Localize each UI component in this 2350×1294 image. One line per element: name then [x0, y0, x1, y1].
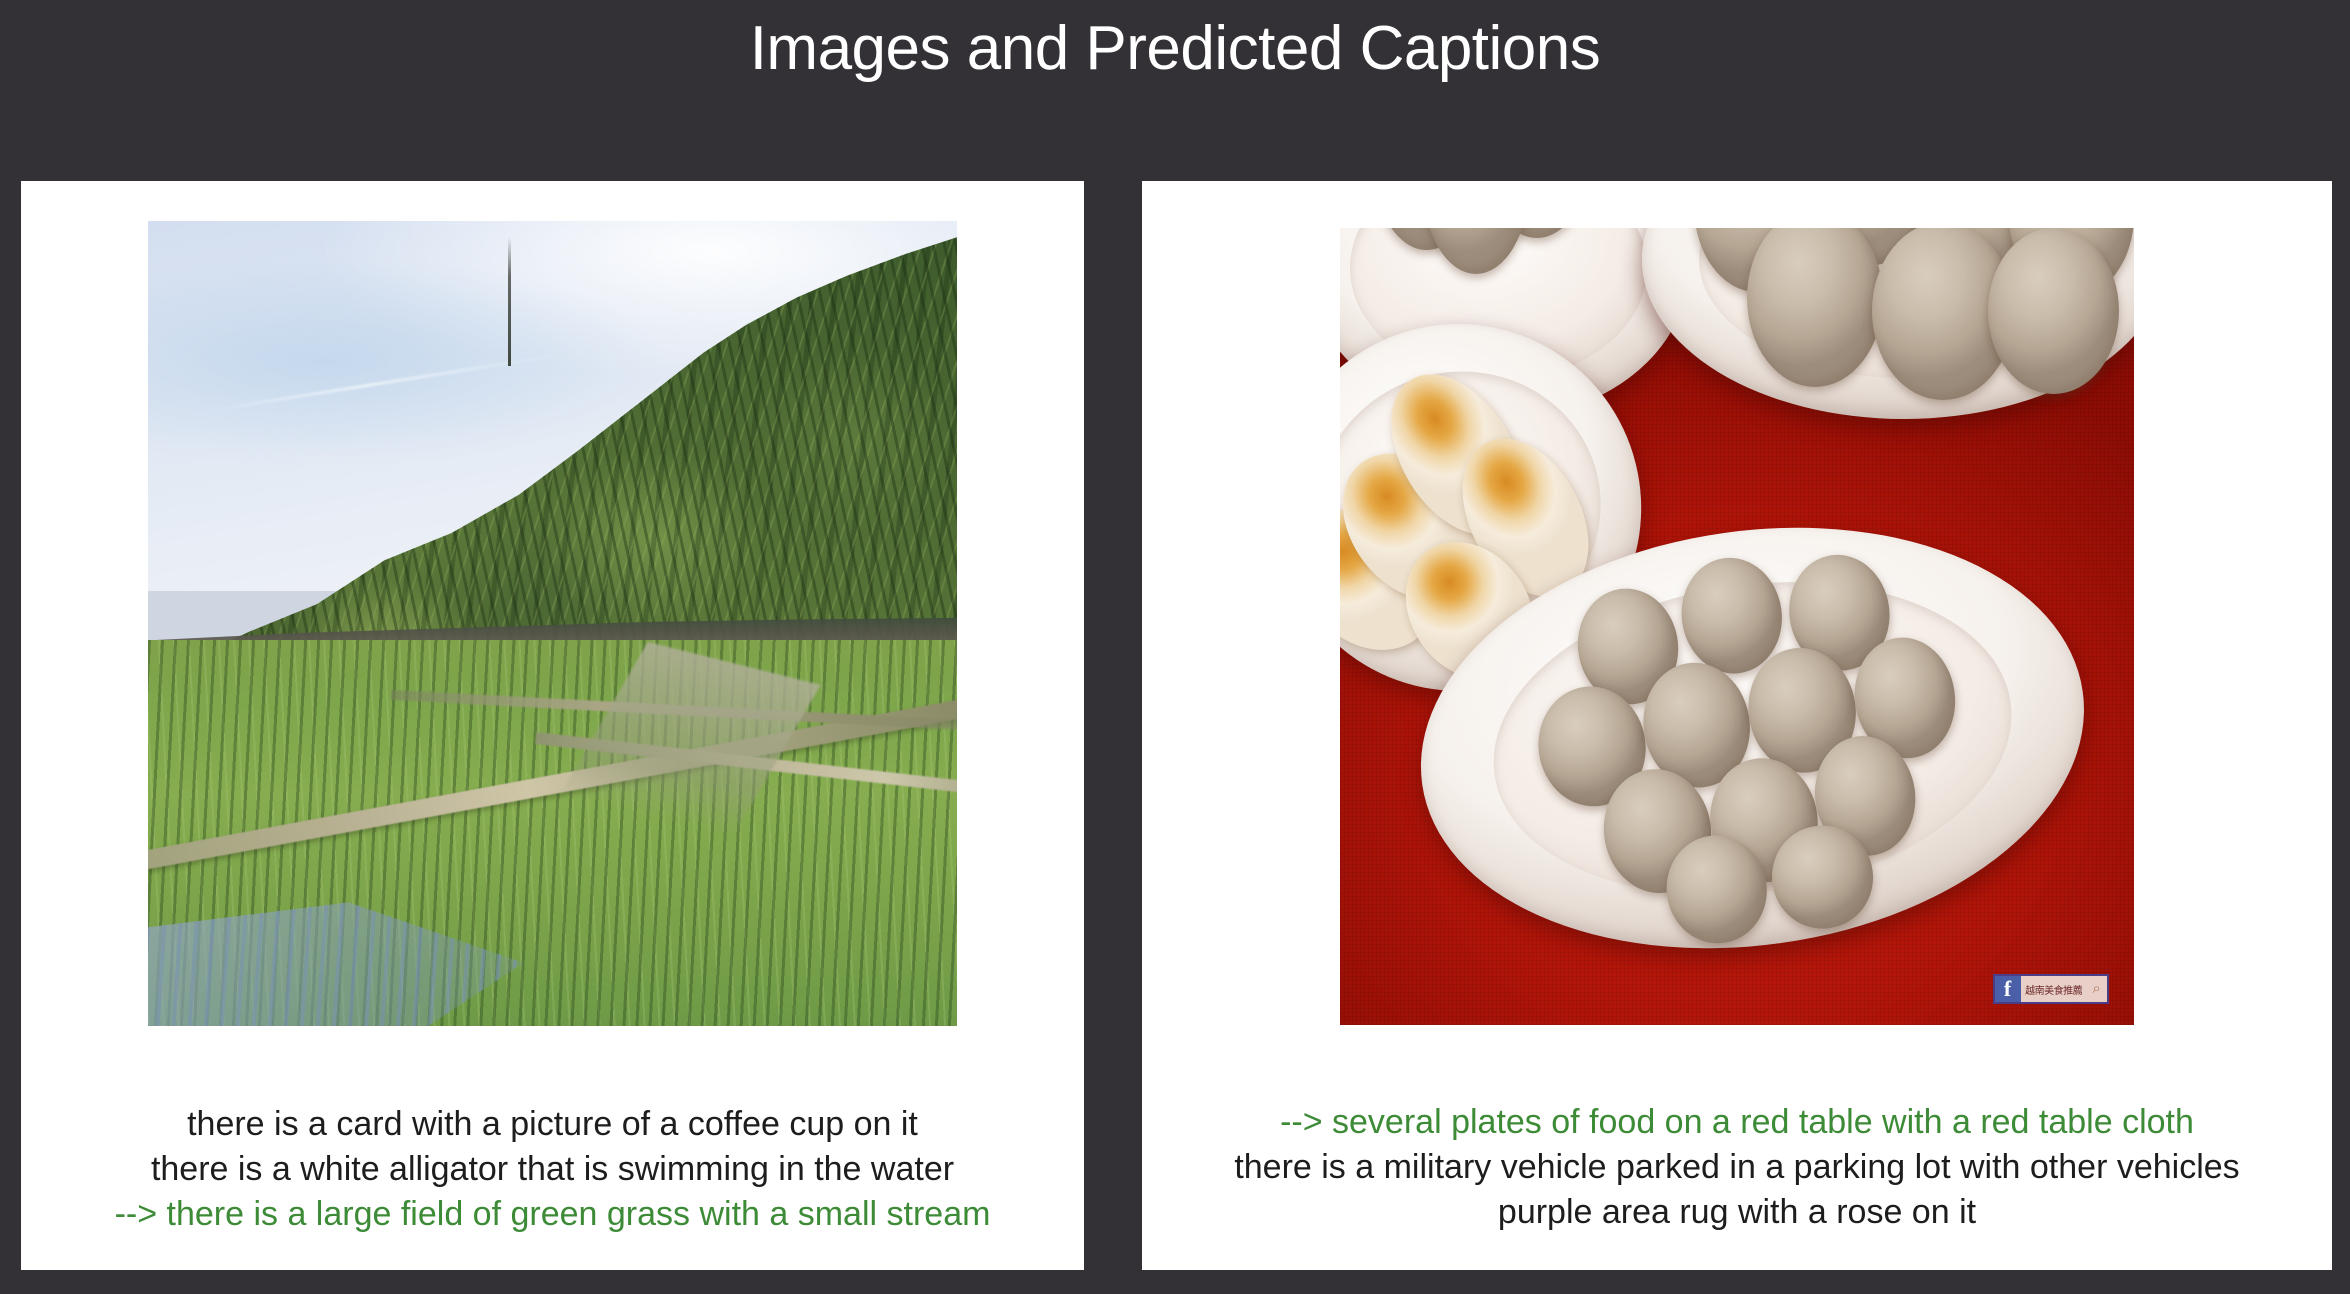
page-title: Images and Predicted Captions	[0, 18, 2350, 80]
magnifier-icon: ⌕	[2087, 976, 2107, 1002]
paddy-field	[148, 640, 957, 1026]
caption-card-left: there is a card with a picture of a coff…	[21, 181, 1084, 1270]
antenna-tower	[508, 237, 511, 366]
plates-of-food-photo: f 越南美食推薦 ⌕	[1340, 228, 2134, 1025]
caption-line: there is a card with a picture of a coff…	[27, 1102, 1078, 1147]
rice-paddy-field-photo	[148, 221, 957, 1026]
facebook-icon: f	[1995, 976, 2021, 1002]
caption-card-right: f 越南美食推薦 ⌕ --> several plates of food on…	[1142, 181, 2332, 1270]
facebook-watermark-badge: f 越南美食推薦 ⌕	[1993, 974, 2109, 1004]
caption-line-predicted: --> there is a large field of green gras…	[27, 1192, 1078, 1237]
dumpling	[1988, 228, 2119, 394]
caption-list-right: --> several plates of food on a red tabl…	[1142, 1100, 2332, 1236]
caption-line: there is a white alligator that is swimm…	[27, 1147, 1078, 1192]
caption-line: purple area rug with a rose on it	[1148, 1190, 2326, 1235]
watermark-text: 越南美食推薦	[2021, 982, 2087, 997]
caption-list-left: there is a card with a picture of a coff…	[21, 1102, 1084, 1238]
app-root: Images and Predicted Captions there is a…	[0, 0, 2350, 1294]
caption-line: there is a military vehicle parked in a …	[1148, 1145, 2326, 1190]
caption-line-predicted: --> several plates of food on a red tabl…	[1148, 1100, 2326, 1145]
